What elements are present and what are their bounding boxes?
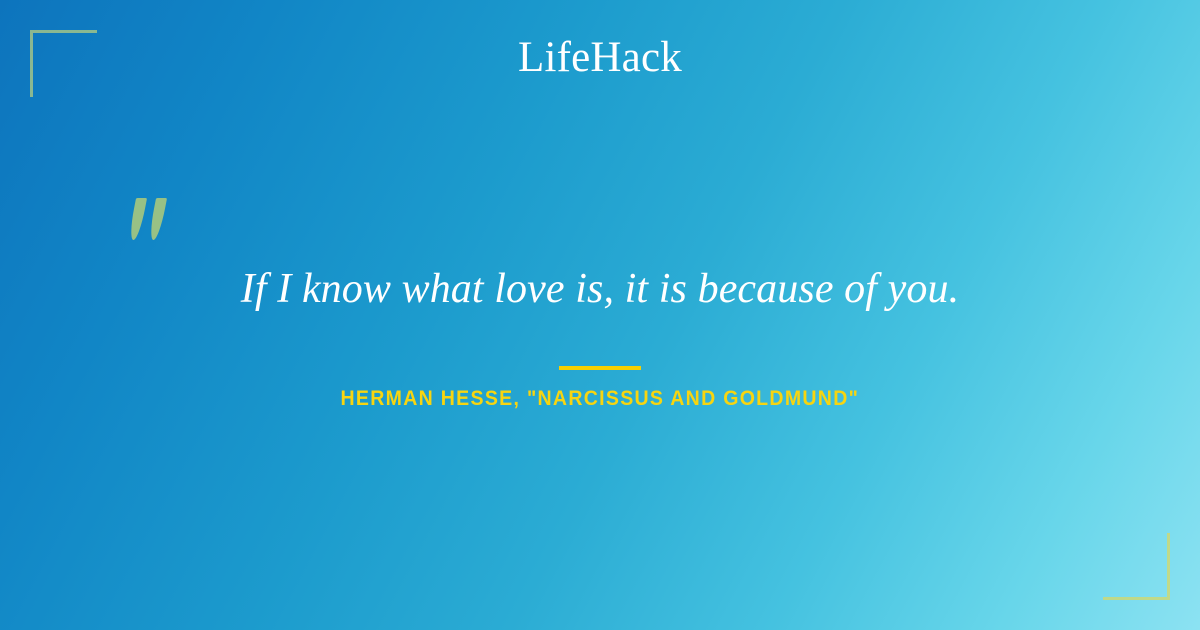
attribution-container: HERMAN HESSE, "NARCISSUS AND GOLDMUND" [0,387,1200,411]
divider-container [0,357,1200,375]
quotation-mark-stroke-2 [148,198,167,240]
quote-text: If I know what love is, it is because of… [0,263,1200,316]
quote-divider [559,366,641,370]
quote-attribution: HERMAN HESSE, "NARCISSUS AND GOLDMUND" [341,387,860,411]
quote-card: LifeHack If I know what love is, it is b… [0,0,1200,630]
quote-block: If I know what love is, it is because of… [0,263,1200,316]
quotation-mark-icon [128,198,180,250]
corner-bracket-bottom-right-icon [1103,533,1170,600]
quotation-mark-stroke-1 [128,198,147,240]
brand-logo: LifeHack [0,36,1200,79]
